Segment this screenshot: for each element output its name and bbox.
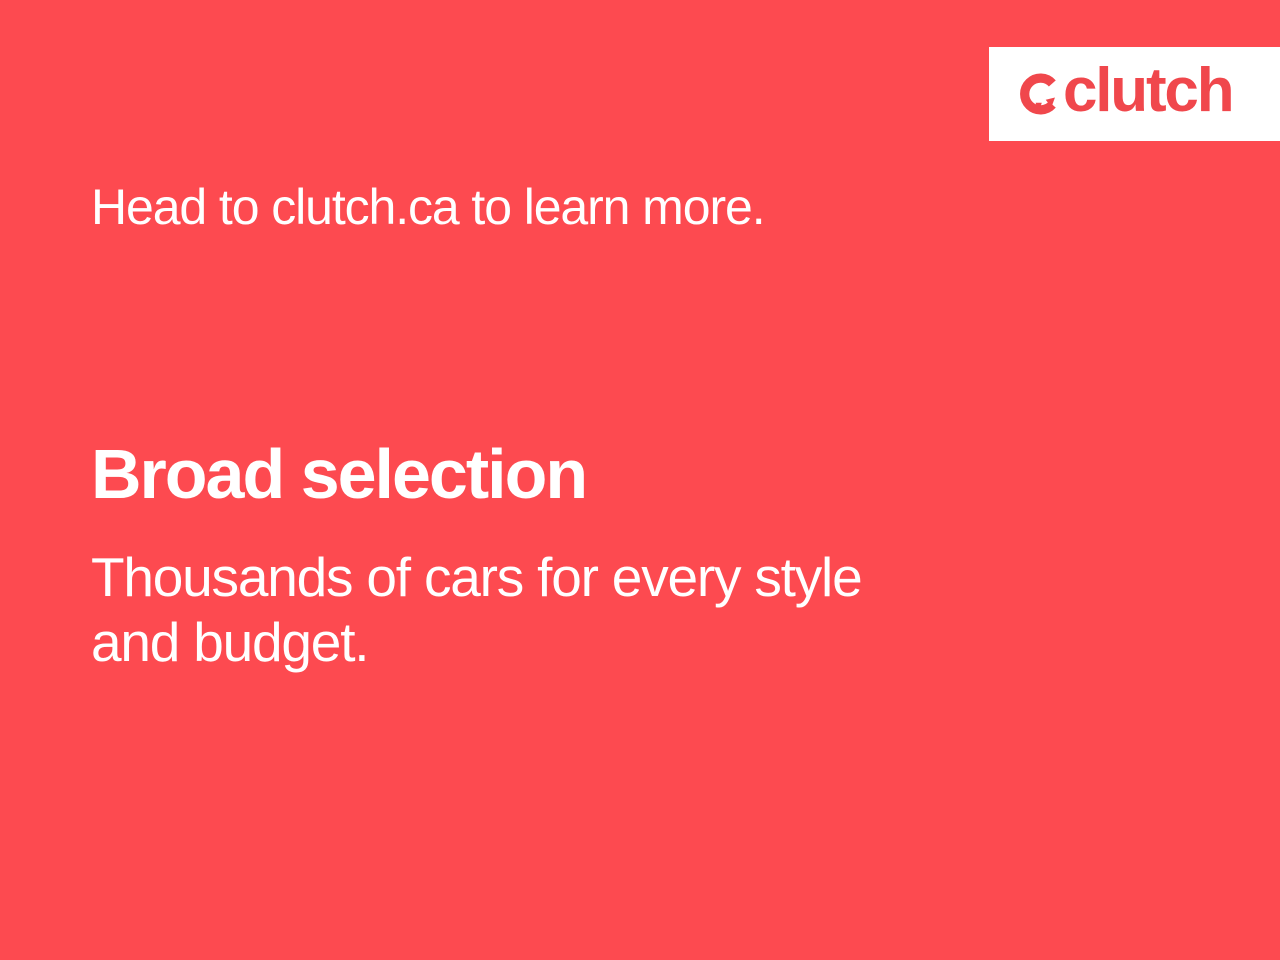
eyebrow-text: Head to clutch.ca to learn more. (91, 180, 765, 234)
subhead-text: Thousands of cars for every style and bu… (91, 545, 1051, 675)
page-title: Broad selection (91, 437, 586, 511)
slide-canvas: clutch Head to clutch.ca to learn more. … (0, 0, 1280, 960)
clutch-wordmark: clutch (1063, 60, 1232, 122)
clutch-c-mark-icon (1018, 72, 1062, 116)
clutch-logo[interactable]: clutch (989, 47, 1280, 141)
subhead-line-1: Thousands of cars for every style (91, 545, 1051, 610)
subhead-line-2: and budget. (91, 610, 1051, 675)
